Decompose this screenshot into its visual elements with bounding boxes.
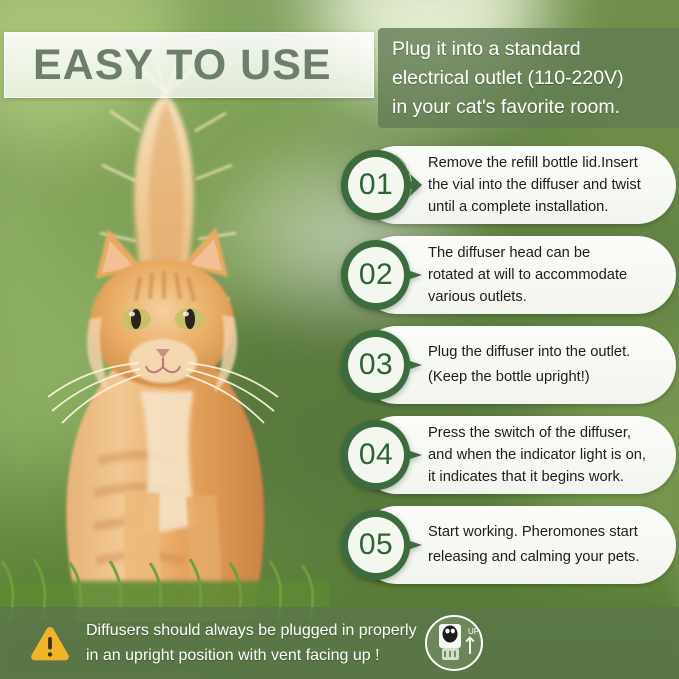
step-number: 03 <box>344 328 408 402</box>
step-number: 05 <box>344 508 408 582</box>
step-line: Press the switch of the diffuser, <box>428 422 660 444</box>
step-text: The diffuser head can be rotated at will… <box>428 236 660 314</box>
step-line: and when the indicator light is on, <box>428 444 660 466</box>
step-item: 04 Press the switch of the diffuser, and… <box>336 416 676 494</box>
step-text: Press the switch of the diffuser, and wh… <box>428 416 660 494</box>
warning-line: in an upright position with vent facing … <box>86 643 417 668</box>
step-line: various outlets. <box>428 286 660 308</box>
steps-list: 01 Remove the refill bottle lid.Insert t… <box>336 146 676 596</box>
step-line: rotated at will to accommodate <box>428 264 660 286</box>
step-number: 01 <box>344 148 408 222</box>
step-text: Plug the diffuser into the outlet. (Keep… <box>428 326 660 404</box>
header-line-3: in your cat's favorite room. <box>392 93 667 122</box>
step-line: Remove the refill bottle lid.Insert <box>428 152 660 174</box>
warning-line: Diffusers should always be plugged in pr… <box>86 618 417 643</box>
step-item: 01 Remove the refill bottle lid.Insert t… <box>336 146 676 224</box>
step-number: 02 <box>344 238 408 312</box>
header-panel: Plug it into a standard electrical outle… <box>378 28 679 128</box>
header-line-1: Plug it into a standard <box>392 35 667 64</box>
step-number: 04 <box>344 418 408 492</box>
step-line: until a complete installation. <box>428 196 660 218</box>
step-item: 02 The diffuser head can be rotated at w… <box>336 236 676 314</box>
step-item: 03 Plug the diffuser into the outlet. (K… <box>336 326 676 404</box>
page-title: EASY TO USE <box>33 44 332 87</box>
step-text: Remove the refill bottle lid.Insert the … <box>428 146 660 224</box>
step-line: Start working. Pheromones start <box>428 520 660 545</box>
step-text: Start working. Pheromones start releasin… <box>428 506 660 584</box>
poster: EASY TO USE Plug it into a standard elec… <box>0 0 679 679</box>
step-line: the vial into the diffuser and twist <box>428 174 660 196</box>
title-banner: EASY TO USE <box>4 32 374 98</box>
warning-triangle-icon <box>30 625 70 661</box>
warning-bar: Diffusers should always be plugged in pr… <box>0 607 679 679</box>
step-line: (Keep the bottle upright!) <box>428 365 660 390</box>
step-line: The diffuser head can be <box>428 242 660 264</box>
header-line-2: electrical outlet (110-220V) <box>392 64 667 93</box>
step-line: Plug the diffuser into the outlet. <box>428 340 660 365</box>
diffuser-upright-icon: UP <box>423 614 485 672</box>
step-item: 05 Start working. Pheromones start relea… <box>336 506 676 584</box>
device-up-label: UP <box>468 627 479 636</box>
step-line: it indicates that it begins work. <box>428 466 660 488</box>
cat-photo <box>0 61 330 621</box>
step-line: releasing and calming your pets. <box>428 545 660 570</box>
warning-text: Diffusers should always be plugged in pr… <box>86 618 417 668</box>
